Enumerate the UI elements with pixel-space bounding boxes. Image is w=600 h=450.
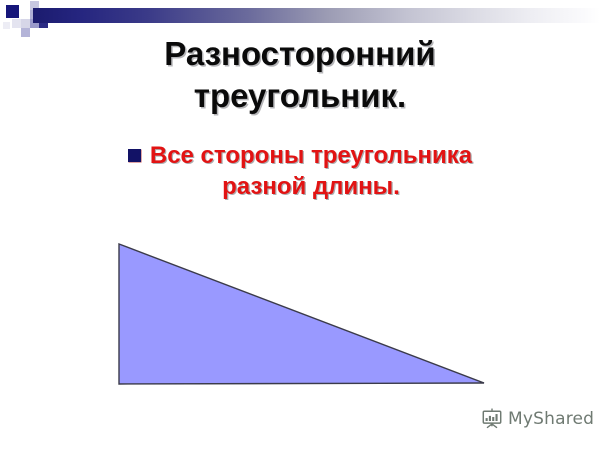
title-line-1: Разносторонний [0, 33, 600, 75]
mosaic-square [12, 19, 21, 28]
header-gradient-bar [33, 8, 600, 23]
body-line-2: разной длины. [150, 171, 472, 202]
bullet-list-item: Все стороны треугольника разной длины. [60, 140, 540, 202]
slide-canvas: Разносторонний треугольник. Все стороны … [0, 0, 600, 450]
mosaic-square [3, 22, 10, 29]
body-content: Все стороны треугольника разной длины. [60, 140, 540, 202]
body-text: Все стороны треугольника разной длины. [150, 140, 472, 202]
triangle-shape [119, 244, 484, 384]
scalene-triangle-figure [112, 238, 494, 393]
page-title: Разносторонний треугольник. [0, 33, 600, 117]
title-line-2: треугольник. [0, 75, 600, 117]
body-line-1: Все стороны треугольника [150, 140, 472, 171]
mosaic-square [21, 19, 30, 28]
watermark-label: MyShared [508, 409, 594, 429]
presentation-board-icon [481, 408, 503, 430]
watermark: MyShared [481, 408, 594, 430]
square-bullet-icon [128, 149, 141, 162]
mosaic-square [6, 5, 19, 18]
